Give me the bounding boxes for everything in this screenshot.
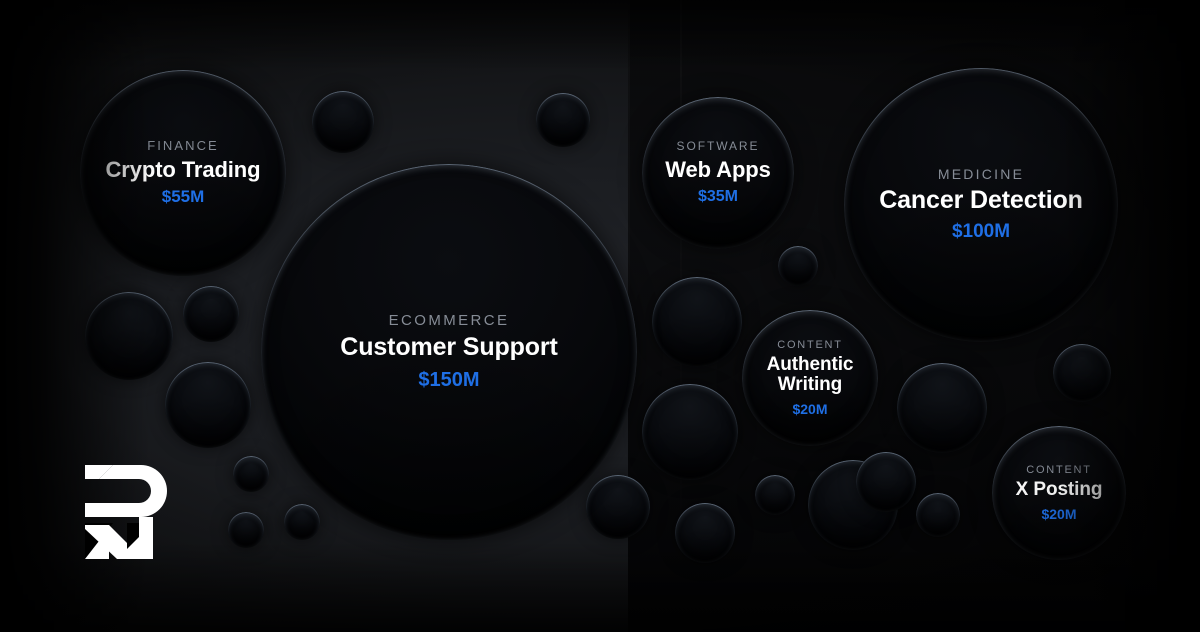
bubble-title: Crypto Trading [106,158,261,182]
bubble-content-authentic-writing[interactable]: CONTENTAuthentic Writing$20M [742,310,878,446]
bubble-category-label: SOFTWARE [677,140,760,153]
bubble-category-label: CONTENT [777,339,842,351]
bubble-map-canvas: ECOMMERCECustomer Support$150MMEDICINECa… [0,0,1200,632]
decorative-bubble [642,384,738,480]
bubble-value: $55M [162,188,205,207]
bubble-software-web-apps[interactable]: SOFTWAREWeb Apps$35M [642,97,794,249]
decorative-bubble [312,91,374,153]
decorative-bubble [228,512,264,548]
decorative-bubble [916,493,960,537]
decorative-bubble [586,475,650,539]
decorative-bubble [755,475,795,515]
bubble-ecommerce-customer-support[interactable]: ECOMMERCECustomer Support$150M [261,164,637,540]
decorative-bubble [856,452,916,512]
bubble-value: $100M [952,222,1010,243]
decorative-bubble [536,93,590,147]
decorative-bubble [1053,344,1111,402]
decorative-bubble [165,362,251,448]
decorative-bubble [652,277,742,367]
bubble-value: $20M [792,402,827,417]
bubble-category-label: ECOMMERCE [389,313,510,330]
decorative-bubble [675,503,735,563]
decorative-bubble [183,286,239,342]
bubble-title: Customer Support [340,334,557,361]
bubble-value: $35M [698,188,738,206]
bubble-title: Web Apps [665,158,770,182]
decorative-bubble [85,292,173,380]
bubble-category-label: CONTENT [1026,464,1091,476]
bubble-value: $20M [1041,507,1076,522]
bubble-title: Cancer Detection [879,187,1083,214]
decorative-bubble [284,504,320,540]
bubble-category-label: MEDICINE [938,167,1024,182]
decorative-bubble [233,456,269,492]
bubble-medicine-cancer-detection[interactable]: MEDICINECancer Detection$100M [844,68,1118,342]
bubble-finance-crypto-trading[interactable]: FINANCECrypto Trading$55M [80,70,286,276]
bubble-title: X Posting [1016,480,1103,500]
bubble-value: $150M [418,369,479,391]
bubble-title: Authentic Writing [752,355,869,396]
decorative-bubble [897,363,987,453]
bubble-content-x-posting[interactable]: CONTENTX Posting$20M [992,426,1126,560]
bubble-category-label: FINANCE [147,139,219,153]
decorative-bubble [778,246,818,286]
angular-r-logo [83,463,167,561]
